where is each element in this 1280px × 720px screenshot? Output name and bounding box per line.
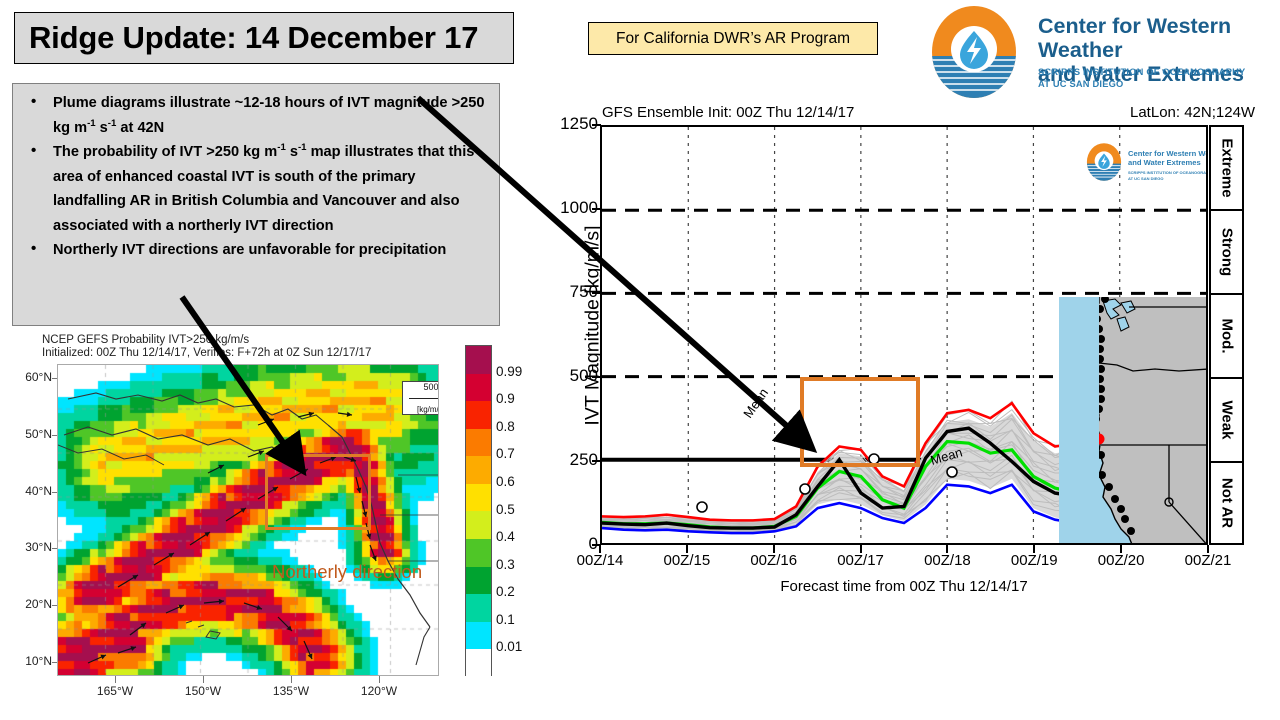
list-item: Northerly IVT directions are unfavorable… [17,238,491,263]
map-lat-tick-label: 10°N [0,654,52,668]
plume-x-tick-label: 00Z/20 [1081,552,1161,569]
slide-title-box: Ridge Update: 14 December 17 [14,12,514,64]
ivt-vector-arrow [88,653,107,663]
ar-scale-column: Extreme Strong Mod. Weak Not AR [1209,125,1244,545]
plume-x-tick-mark [599,545,601,553]
ncep-map-subtitle: Initialized: 00Z Thu 12/14/17, Verifies:… [42,347,371,359]
plume-x-tick-mark [860,545,862,553]
cw3e-logo-icon [920,4,1028,100]
list-item: The probability of IVT >250 kg m-1 s-1 m… [17,140,491,238]
cw3e-watermark-sub: SCRIPPS INSTITUTION OF OCEANOGRAPHY AT U… [1128,170,1208,181]
bullet-summary-box: Plume diagrams illustrate ~12-18 hours o… [12,83,500,326]
colorbar-tick-label: 0.8 [496,419,544,434]
bullet-text-0: Plume diagrams illustrate ~12-18 hours o… [53,95,484,136]
ar-cat-strong-label: Strong [1218,228,1235,276]
ar-cat-strong: Strong [1211,211,1242,295]
colorbar-segment-blank [466,649,491,677]
ivt-vector-arrow [130,621,148,635]
wm-line1: Center for Western Weather [1128,149,1208,158]
ivt-vector-arrow [166,603,185,613]
colorbar-tick-label: 0.99 [496,364,544,379]
map-lon-tick-label: 150°W [173,684,233,698]
vector-scale-legend: 500 [kg/m/s] [402,381,439,415]
colorbar-tick-label: 0.5 [496,502,544,517]
ivt-vector-arrow [118,573,139,587]
ivt-vector-arrow [338,412,352,418]
ncep-map-title: NCEP GEFS Probability IVT>250 kg/m/s [42,334,249,346]
plume-plot-area: MeanMean Center for Weste [600,125,1208,545]
ivt-vector-arrow [154,551,175,565]
cw3e-sub-line2: AT UC SAN DIEGO [1038,79,1123,89]
map-coastline [68,393,328,425]
map-lon-tick-mark [203,676,204,683]
ar-cat-not-ar: Not AR [1211,463,1242,543]
colorbar-segment [466,429,491,457]
ivt-vector-arrow [226,506,247,521]
colorbar-segment [466,567,491,595]
map-lon-tick-label: 135°W [261,684,321,698]
map-coastline [416,627,430,665]
ivt-vector-arrow [244,603,263,611]
plume-latlon-label: LatLon: 42N;124W [1130,104,1255,121]
map-lat-tick-label: 60°N [0,370,52,384]
colorbar-segment [466,484,491,512]
page-title: Ridge Update: 14 December 17 [15,20,478,56]
northerly-direction-annotation: Northerly direction [272,561,422,583]
colorbar-segment [466,346,491,374]
plume-x-tick-mark [773,545,775,553]
vector-magnitude: 500 [403,382,439,392]
plume-y-tick-label: 1000 [538,198,598,218]
ivt-vector-arrow [208,463,225,473]
ar-cat-weak: Weak [1211,379,1242,463]
plume-y-tick-label: 750 [538,282,598,302]
colorbar-tick-label: 0.3 [496,557,544,572]
map-lon-tick-mark [291,676,292,683]
colorbar-tick-label: 0.4 [496,529,544,544]
list-item: Plume diagrams illustrate ~12-18 hours o… [17,91,491,140]
plume-y-tick-label: 500 [538,366,598,386]
plume-x-tick-label: 00Z/15 [647,552,727,569]
bullet-list: Plume diagrams illustrate ~12-18 hours o… [17,91,491,263]
ivt-vector-arrow [370,545,378,562]
plume-init-title: GFS Ensemble Init: 00Z Thu 12/14/17 [602,104,854,121]
vector-units: [kg/m/s] [403,405,439,414]
plume-x-tick-label: 00Z/16 [734,552,814,569]
ivt-plume-chart: GFS Ensemble Init: 00Z Thu 12/14/17 LatL… [540,104,1280,604]
ar-cat-extreme: Extreme [1211,127,1242,211]
bullet-text-1: The probability of IVT >250 kg m-1 s-1 m… [53,144,474,234]
colorbar-segment [466,401,491,429]
ar-cat-weak-label: Weak [1218,401,1235,440]
ar-cat-extreme-label: Extreme [1218,138,1235,197]
colorbar-tick-label: 0.6 [496,474,544,489]
plume-x-tick-mark [946,545,948,553]
ivt-vector-arrow [204,598,224,604]
plume-x-tick-label: 00Z/18 [907,552,987,569]
colorbar-tick-label: 0.7 [496,446,544,461]
ivt-vector-arrow [304,641,314,660]
ivt-vector-arrow [190,530,211,545]
plume-inline-label: Mean [740,385,771,420]
bullet-text-2: Northerly IVT directions are unfavorable… [53,242,446,258]
colorbar-segment [466,594,491,622]
cw3e-sub-line1: SCRIPPS INSTITUTION OF OCEANOGRAPHY [1038,67,1245,77]
colorbar-segment [466,374,491,402]
map-lon-tick-mark [115,676,116,683]
ivt-vector-arrow [278,617,294,633]
probability-colorbar [465,345,492,676]
plume-x-tick-label: 00Z/14 [560,552,640,569]
ivt-vector-arrow [118,645,137,653]
cw3e-name-line1: Center for Western Weather [1038,14,1231,62]
wm-sub2: AT UC SAN DIEGO [1128,176,1163,181]
ar-cat-moderate: Mod. [1211,295,1242,379]
cw3e-logo-icon-small [1082,141,1126,183]
plume-x-tick-mark [1033,545,1035,553]
plume-x-tick-label: 00Z/21 [1168,552,1248,569]
colorbar-tick-label: 0.01 [496,639,544,654]
plume-x-tick-label: 00Z/17 [821,552,901,569]
map-highlight-box [265,454,371,530]
plume-y-tick-label: 1250 [538,114,598,134]
ivt-vector-arrow [258,417,275,425]
cw3e-watermark-name: Center for Western Weather and Water Ext… [1128,149,1208,168]
colorbar-segment [466,622,491,650]
map-coastline [58,445,164,465]
plume-marker [800,484,810,494]
plume-x-tick-mark [686,545,688,553]
colorbar-segment [466,456,491,484]
plume-marker [697,502,707,512]
map-coastline-overlay [58,365,438,675]
cw3e-watermark-logo: Center for Western Weather and Water Ext… [1082,141,1208,193]
plume-y-tick-label: 0 [538,534,598,554]
plume-marker [947,467,957,477]
plume-x-tick-mark [1207,545,1209,553]
map-lon-tick-label: 120°W [349,684,409,698]
wm-line2: and Water Extremes [1128,158,1201,167]
colorbar-segment [466,539,491,567]
map-coastline [186,621,220,639]
inset-ocean [1059,297,1099,545]
map-coastline [380,475,438,561]
plume-y-tick-label: 250 [538,450,598,470]
colorbar-tick-label: 0.1 [496,612,544,627]
dwr-program-banner: For California DWR’s AR Program [588,22,878,55]
colorbar-tick-label: 0.9 [496,391,544,406]
ar-cat-not-ar-label: Not AR [1218,478,1235,528]
plume-x-tick-mark [1120,545,1122,553]
plume-x-tick-label: 00Z/19 [994,552,1074,569]
map-lon-tick-label: 165°W [85,684,145,698]
map-coastline [64,427,290,457]
map-lat-tick-label: 50°N [0,427,52,441]
map-lon-tick-mark [379,676,380,683]
map-lat-tick-label: 20°N [0,597,52,611]
cw3e-logo-header: Center for Western Weather and Water Ext… [920,4,1280,100]
plume-highlight-box [800,377,920,467]
ar-cat-moderate-label: Mod. [1218,319,1235,354]
wm-sub1: SCRIPPS INSTITUTION OF OCEANOGRAPHY [1128,170,1208,175]
ncep-gefs-probability-map: NCEP GEFS Probability IVT>250 kg/m/s Ini… [30,334,530,720]
west-coast-inset-map [1059,297,1208,545]
cw3e-subtitle: SCRIPPS INSTITUTION OF OCEANOGRAPHY AT U… [1038,66,1245,90]
map-plot-area: 500 [kg/m/s] Northerly direction [57,364,439,676]
colorbar-segment [466,511,491,539]
plume-x-axis-label: Forecast time from 00Z Thu 12/14/17 [600,578,1208,595]
map-lat-tick-label: 40°N [0,484,52,498]
map-lat-tick-label: 30°N [0,540,52,554]
vector-arrow-icon [409,398,439,399]
colorbar-tick-label: 0.2 [496,584,544,599]
